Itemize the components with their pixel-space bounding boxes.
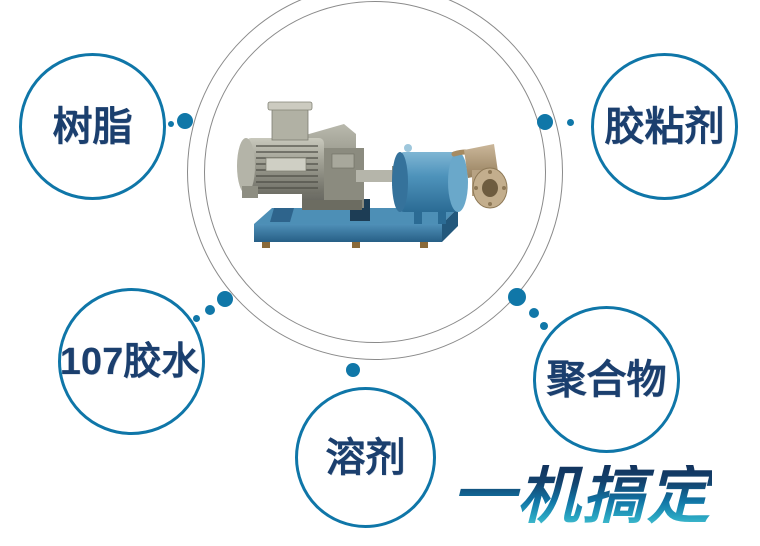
- electric-motor: [237, 102, 324, 198]
- industrial-pump-photo: [232, 96, 514, 256]
- connector-dot: [567, 119, 574, 126]
- bubble-solvent[interactable]: 溶剂: [295, 387, 436, 528]
- bubble-label-glue107: 107胶水: [60, 343, 199, 381]
- bubble-resin[interactable]: 树脂: [19, 53, 166, 200]
- bubble-label-resin: 树脂: [53, 107, 133, 147]
- bubble-adhesive[interactable]: 胶粘剂: [591, 53, 738, 200]
- poster-canvas: 树脂 胶粘剂 107胶水 溶剂 聚合物 一机搞定: [0, 0, 760, 546]
- connector-dot: [537, 114, 553, 130]
- bubble-label-adhesive: 胶粘剂: [605, 107, 725, 147]
- connector-dot: [540, 322, 548, 330]
- bubble-label-solvent: 溶剂: [326, 438, 406, 478]
- bubble-glue107[interactable]: 107胶水: [58, 288, 205, 435]
- connector-dot: [177, 113, 193, 129]
- connector-dot: [205, 305, 215, 315]
- connector-dot: [217, 291, 233, 307]
- connector-dot: [529, 308, 539, 318]
- bubble-label-polymer: 聚合物: [547, 360, 667, 400]
- connector-dot: [193, 315, 200, 322]
- connector-dot: [168, 121, 174, 127]
- connector-dot: [508, 288, 526, 306]
- bubble-polymer[interactable]: 聚合物: [533, 306, 680, 453]
- outlet-flange: [464, 144, 507, 208]
- connector-dot: [346, 363, 360, 377]
- slogan-text: 一机搞定: [452, 465, 712, 528]
